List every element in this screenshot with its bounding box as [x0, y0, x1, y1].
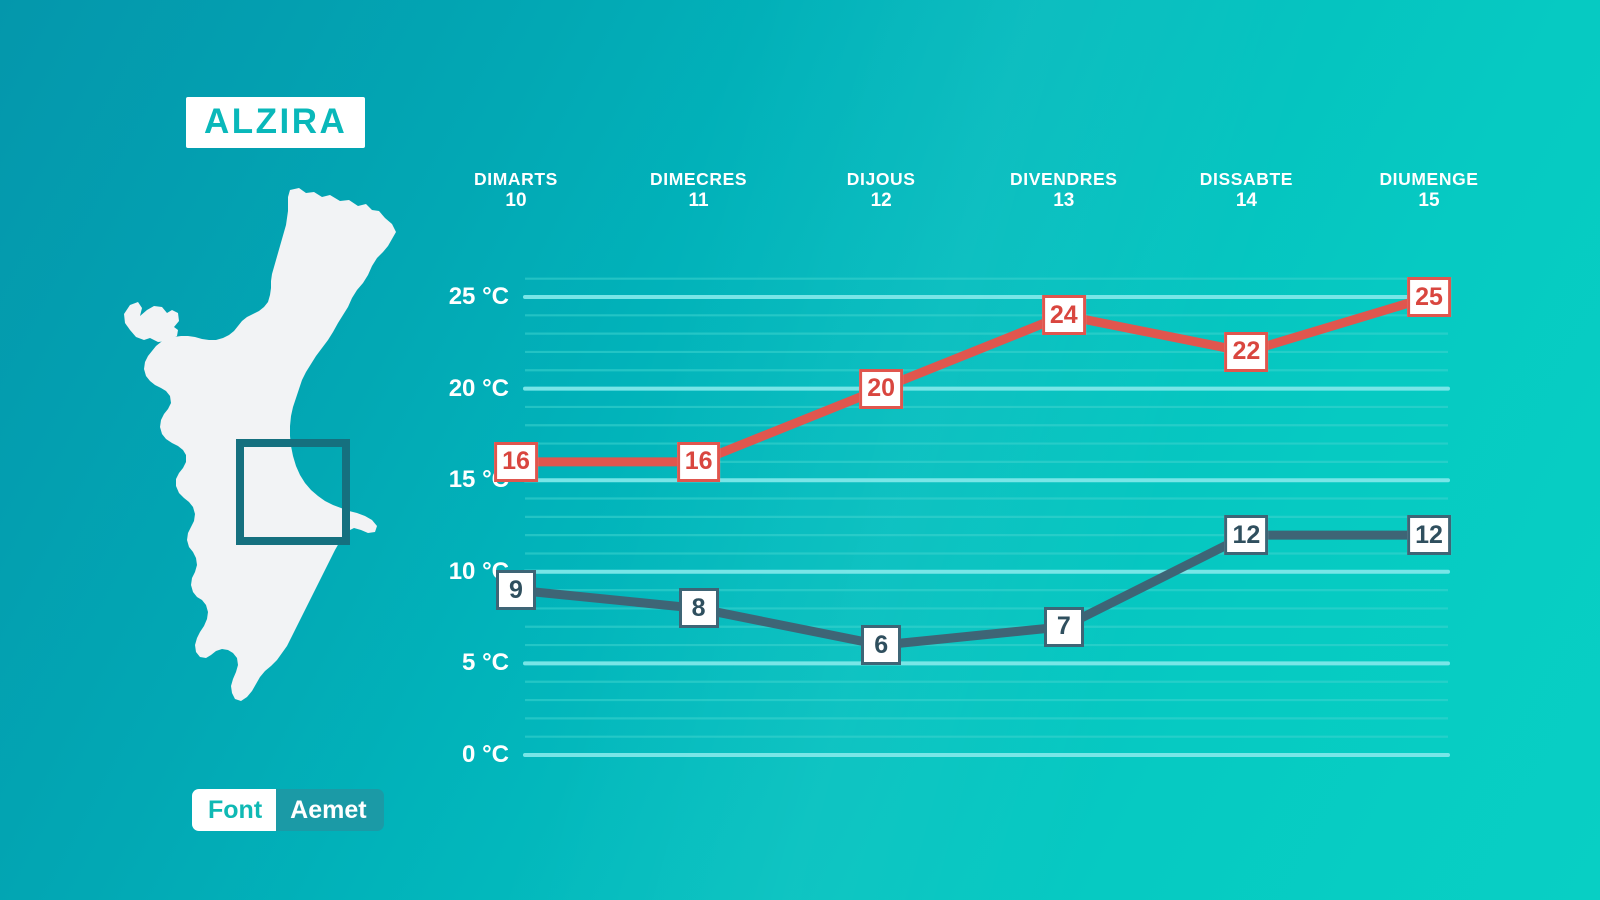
day-name: DISSABTE [1200, 170, 1293, 190]
value-label-max-13: 24 [1042, 295, 1086, 335]
chart-plot-area: 0 °C5 °C10 °C15 °C20 °C25 °C161620242225… [430, 225, 1490, 700]
region-map [100, 180, 420, 760]
day-number: 12 [847, 190, 916, 211]
map-enclave-shape [124, 302, 179, 342]
value-label-max-12: 20 [859, 369, 903, 409]
day-number: 14 [1200, 190, 1293, 211]
day-number: 10 [474, 190, 558, 211]
series-line-mínima [516, 535, 1429, 645]
day-name: DIVENDRES [1010, 170, 1118, 190]
source-badge: Font Aemet [192, 789, 384, 831]
value-label-min-12: 6 [861, 625, 901, 665]
value-label-min-11: 8 [679, 588, 719, 628]
day-number: 15 [1379, 190, 1478, 211]
chart-series [430, 225, 1490, 700]
value-label-min-14: 12 [1224, 515, 1268, 555]
y-axis-label-20: 20 °C [430, 375, 509, 403]
value-label-min-15: 12 [1407, 515, 1451, 555]
temperature-chart: DIMARTS10DIMECRES11DIJOUS12DIVENDRES13DI… [430, 170, 1490, 730]
value-label-max-15: 25 [1407, 277, 1451, 317]
day-name: DIMARTS [474, 170, 558, 190]
day-name: DIJOUS [847, 170, 916, 190]
value-label-min-10: 9 [496, 570, 536, 610]
day-header-13: DIVENDRES13 [1010, 170, 1118, 211]
source-label: Font [192, 789, 276, 831]
day-headers: DIMARTS10DIMECRES11DIJOUS12DIVENDRES13DI… [430, 170, 1490, 222]
day-header-12: DIJOUS12 [847, 170, 916, 211]
day-number: 11 [650, 190, 747, 211]
value-label-max-14: 22 [1224, 332, 1268, 372]
location-title-badge: ALZIRA [186, 97, 365, 148]
source-value: Aemet [276, 789, 383, 831]
day-number: 13 [1010, 190, 1118, 211]
value-label-min-13: 7 [1044, 607, 1084, 647]
series-line-màxima [516, 297, 1429, 462]
day-header-15: DIUMENGE15 [1379, 170, 1478, 211]
day-header-11: DIMECRES11 [650, 170, 747, 211]
y-axis-label-5: 5 °C [430, 649, 509, 677]
value-label-max-11: 16 [677, 442, 721, 482]
page-title: ALZIRA [204, 104, 347, 139]
day-name: DIMECRES [650, 170, 747, 190]
value-label-max-10: 16 [494, 442, 538, 482]
day-name: DIUMENGE [1379, 170, 1478, 190]
day-header-14: DISSABTE14 [1200, 170, 1293, 211]
day-header-10: DIMARTS10 [474, 170, 558, 211]
y-axis-label-0: 0 °C [430, 741, 509, 769]
y-axis-label-25: 25 °C [430, 283, 509, 311]
